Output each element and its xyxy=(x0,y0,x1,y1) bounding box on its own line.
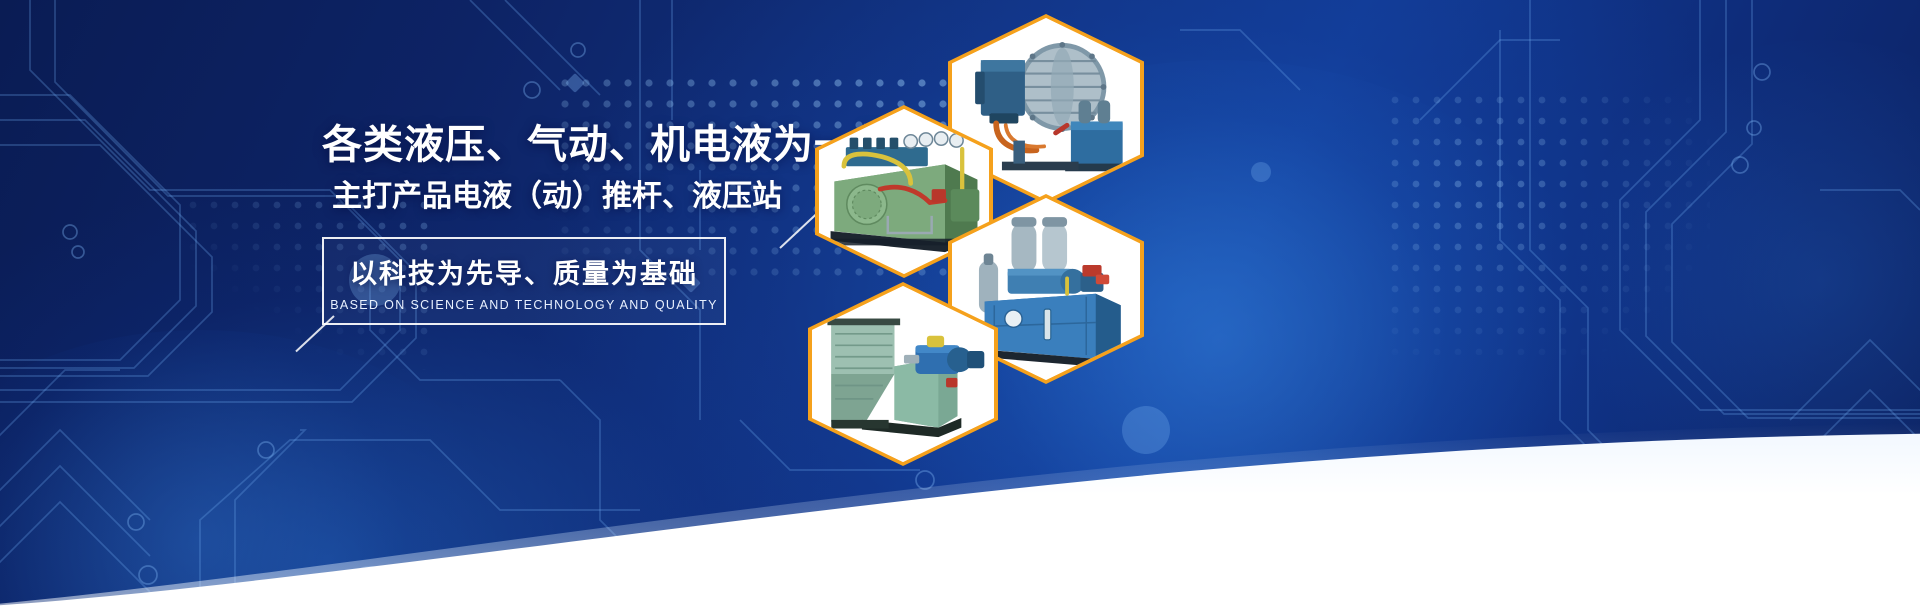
slogan-box: 以科技为先导、质量为基础 BASED ON SCIENCE AND TECHNO… xyxy=(322,237,726,325)
dot-matrix-right xyxy=(1390,95,1710,355)
slogan-block: 以科技为先导、质量为基础 BASED ON SCIENCE AND TECHNO… xyxy=(322,237,792,325)
slogan-accent-left-line xyxy=(295,315,334,352)
hexagon-product-cluster xyxy=(780,0,1180,609)
banner-copy: 各类液压、气动、机电液为一体 主打产品电液（动）推杆、液压站 以科技为先导、质量… xyxy=(322,122,792,325)
glow-right-edge xyxy=(1560,40,1920,520)
slogan-english: BASED ON SCIENCE AND TECHNOLOGY AND QUAL… xyxy=(330,298,718,312)
page-title: 各类液压、气动、机电液为一体 xyxy=(322,122,792,169)
page-subtitle: 主打产品电液（动）推杆、液压站 xyxy=(322,179,792,215)
glow-lower-left xyxy=(0,330,510,609)
slogan-chinese: 以科技为先导、质量为基础 xyxy=(350,252,698,291)
hero-banner: 各类液压、气动、机电液为一体 主打产品电液（动）推杆、液压站 以科技为先导、质量… xyxy=(0,0,1920,609)
